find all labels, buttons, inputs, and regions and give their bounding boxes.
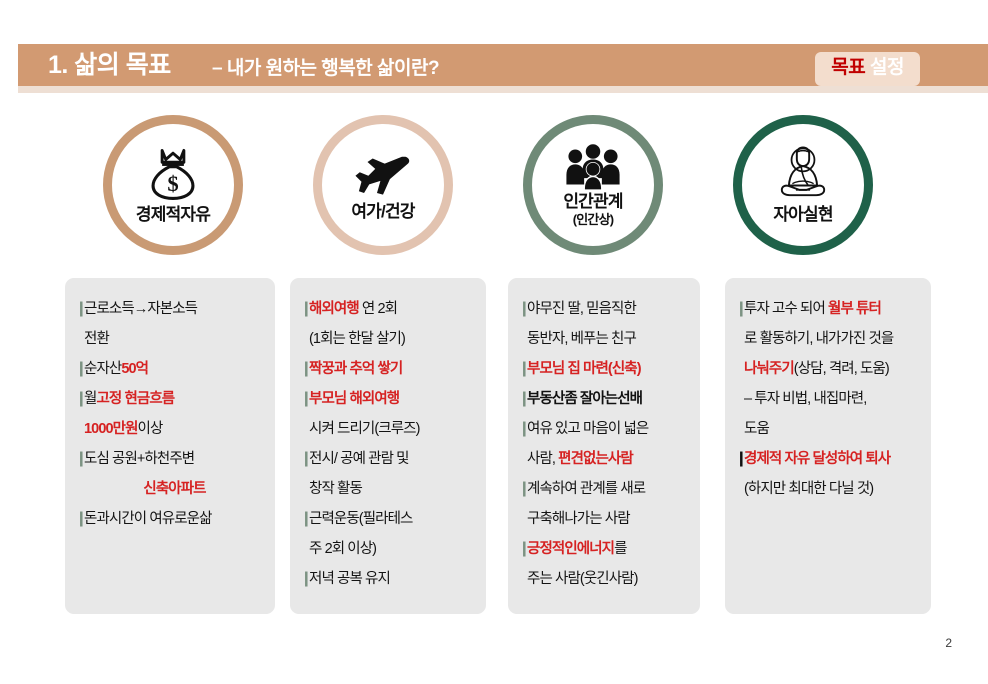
- self-realization-card: ❙투자 고수 되어 월부 튜터로 활동하기, 내가가진 것을나눠주기(상담, 격…: [725, 278, 931, 614]
- text-run: 여유 있고 마음이 넓은: [527, 421, 648, 437]
- list-bullet-icon: ❙: [518, 474, 527, 504]
- text-run: 도심 공원+하천주변: [84, 451, 194, 467]
- text-run: 50억: [121, 361, 148, 377]
- list-item-text: 월고정 현금흐름: [84, 384, 265, 414]
- list-item: 사람, 편견없는사람: [518, 444, 690, 474]
- economic-freedom-card: ❙근로소득→자본소득전환❙순자산50억❙월고정 현금흐름1000만원이상❙도심 …: [65, 278, 275, 614]
- list-item-text: 경제적 자유 달성하여 퇴사: [744, 444, 921, 474]
- text-run: 부모님 해외여행: [309, 391, 399, 407]
- list-item: 주 2회 이상): [300, 534, 476, 564]
- list-item: (1회는 한달 살기): [300, 324, 476, 354]
- list-item: ❙도심 공원+하천주변: [75, 444, 265, 474]
- category-circle-relationships: 인간관계 (인간상): [523, 115, 663, 255]
- list-bullet-icon: ❙: [75, 294, 84, 324]
- list-item: (하지만 최대한 다닐 것): [735, 474, 921, 504]
- list-item-text: 부모님 집 마련(신축): [527, 354, 690, 384]
- category-circle-leisure-health: 여가/건강: [313, 115, 453, 255]
- list-bullet-icon: ❙: [518, 384, 527, 414]
- list-item: 로 활동하기, 내가가진 것을: [735, 324, 921, 354]
- list-bullet-icon: ❙: [518, 354, 527, 384]
- list-item: ❙돈과시간이 여유로운삶: [75, 504, 265, 534]
- text-run: 이상: [138, 421, 163, 437]
- category-label: 경제적자유: [136, 205, 210, 225]
- list-item: 전환: [75, 324, 265, 354]
- goal-list: ❙투자 고수 되어 월부 튜터로 활동하기, 내가가진 것을나눠주기(상담, 격…: [735, 294, 921, 504]
- text-run: 시켜 드리기(크루즈): [309, 421, 420, 437]
- list-item-text: 긍정적인에너지를: [527, 534, 690, 564]
- text-run: 고정 현금흐름: [96, 391, 174, 407]
- list-item: 도움: [735, 414, 921, 444]
- category-label: 인간관계: [563, 192, 622, 212]
- list-item-text: 근로소득→자본소득: [84, 294, 265, 324]
- text-run: 동반자, 베푸는 친구: [527, 331, 636, 347]
- list-bullet-icon: ❙: [75, 444, 84, 474]
- list-item-text: 부동산좀 잘아는선배: [527, 384, 690, 414]
- list-item-text: 근력운동(필라테스: [309, 504, 476, 534]
- text-run: 근로소득→자본소득: [84, 301, 197, 317]
- list-bullet-icon: ❙: [735, 294, 744, 324]
- text-run: 주는 사람(웃긴사람): [527, 571, 638, 587]
- list-bullet-icon: ❙: [300, 354, 309, 384]
- text-run: 야무진 딸, 믿음직한: [527, 301, 636, 317]
- list-item: 구축해나가는 사람: [518, 504, 690, 534]
- header-bar-underline: [18, 86, 988, 93]
- list-bullet-icon: ❙: [518, 414, 527, 444]
- category-label: 자아실현: [773, 205, 832, 225]
- list-item-text: 부모님 해외여행: [309, 384, 476, 414]
- list-item: 1000만원이상: [75, 414, 265, 444]
- text-run: (하지만 최대한 다닐 것): [744, 481, 873, 497]
- text-run: 저녁 공복 유지: [309, 571, 390, 587]
- list-item-text: 전환: [84, 324, 265, 354]
- list-item-text: 전시/ 공예 관람 및: [309, 444, 476, 474]
- list-item: ❙계속하여 관계를 새로: [518, 474, 690, 504]
- list-item-text: 도움: [744, 414, 921, 444]
- list-item-text: (1회는 한달 살기): [309, 324, 476, 354]
- text-run: 창작 활동: [309, 481, 362, 497]
- goal-list: ❙근로소득→자본소득전환❙순자산50억❙월고정 현금흐름1000만원이상❙도심 …: [75, 294, 265, 534]
- list-item: – 투자 비법, 내집마련,: [735, 384, 921, 414]
- list-item-text: 주는 사람(웃긴사람): [527, 564, 690, 594]
- text-run: (상담, 격려, 도움): [794, 361, 889, 377]
- text-run: 경제적 자유 달성하여 퇴사: [744, 451, 890, 467]
- category-sublabel: (인간상): [573, 212, 614, 228]
- list-item-text: 돈과시간이 여유로운삶: [84, 504, 265, 534]
- text-run: 돈과시간이 여유로운삶: [84, 511, 212, 527]
- list-item-text: 로 활동하기, 내가가진 것을: [744, 324, 921, 354]
- meditating-buddha-icon: [773, 145, 833, 203]
- list-item: ❙야무진 딸, 믿음직한: [518, 294, 690, 324]
- list-item-text: 야무진 딸, 믿음직한: [527, 294, 690, 324]
- goal-list: ❙해외여행 연 2회(1회는 한달 살기)❙ 짝꿍과 추억 쌓기❙부모님 해외여…: [300, 294, 476, 594]
- text-run: 계속하여 관계를 새로: [527, 481, 645, 497]
- list-item: 신축아파트: [75, 474, 265, 504]
- text-run: 구축해나가는 사람: [527, 511, 630, 527]
- goal-list: ❙야무진 딸, 믿음직한동반자, 베푸는 친구❙부모님 집 마련(신축)❙부동산…: [518, 294, 690, 594]
- text-run: 1000만원: [84, 421, 138, 437]
- list-item-text: 도심 공원+하천주변: [84, 444, 265, 474]
- list-item-text: 시켜 드리기(크루즈): [309, 414, 476, 444]
- list-bullet-icon: ❙: [300, 294, 309, 324]
- text-run: 를: [614, 541, 626, 557]
- leisure-health-card: ❙해외여행 연 2회(1회는 한달 살기)❙ 짝꿍과 추억 쌓기❙부모님 해외여…: [290, 278, 486, 614]
- list-item: ❙여유 있고 마음이 넓은: [518, 414, 690, 444]
- status-badge: 목표 설정: [815, 52, 920, 86]
- text-run: 사람,: [527, 451, 558, 467]
- list-item-text: 주 2회 이상): [309, 534, 476, 564]
- list-item-text: 신축아파트: [84, 474, 265, 504]
- list-item-text: – 투자 비법, 내집마련,: [744, 384, 921, 414]
- status-badge-secondary-text: 설정: [865, 57, 904, 78]
- text-run: 전시/ 공예 관람 및: [309, 451, 409, 467]
- list-item-text: 순자산50억: [84, 354, 265, 384]
- list-item: 나눠주기(상담, 격려, 도움): [735, 354, 921, 384]
- text-run: 해외여행: [309, 301, 359, 317]
- list-item: ❙해외여행 연 2회: [300, 294, 476, 324]
- airplane-icon: [352, 148, 414, 200]
- list-item: ❙경제적 자유 달성하여 퇴사: [735, 444, 921, 474]
- list-item-text: 구축해나가는 사람: [527, 504, 690, 534]
- list-item-text: 계속하여 관계를 새로: [527, 474, 690, 504]
- list-bullet-icon: ❙: [300, 444, 309, 474]
- list-bullet-icon: ❙: [300, 384, 309, 414]
- category-circle-self-realization: 자아실현: [733, 115, 873, 255]
- text-run: 나눠주기: [744, 361, 794, 377]
- list-item: ❙근력운동(필라테스: [300, 504, 476, 534]
- text-run: 월부 튜터: [828, 301, 881, 317]
- text-run: 로 활동하기, 내가가진 것을: [744, 331, 893, 347]
- text-run: (1회는 한달 살기): [309, 331, 405, 347]
- list-item: 동반자, 베푸는 친구: [518, 324, 690, 354]
- money-bag-icon: $: [144, 145, 202, 203]
- list-bullet-icon: ❙: [518, 294, 527, 324]
- status-badge-primary-text: 목표: [831, 57, 865, 78]
- list-item: ❙월고정 현금흐름: [75, 384, 265, 414]
- text-run: 투자 고수 되어: [744, 301, 828, 317]
- list-item-text: 투자 고수 되어 월부 튜터: [744, 294, 921, 324]
- list-item: 창작 활동: [300, 474, 476, 504]
- text-run: 긍정적인에너지: [527, 541, 614, 557]
- list-item: ❙투자 고수 되어 월부 튜터: [735, 294, 921, 324]
- text-run: 전환: [84, 331, 109, 347]
- text-run: 월: [84, 391, 96, 407]
- svg-text:$: $: [167, 171, 178, 196]
- page-title: 1. 삶의 목표: [48, 48, 171, 82]
- text-run: – 투자 비법, 내집마련,: [744, 391, 866, 407]
- text-run: 짝꿍과 추억 쌓기: [309, 361, 402, 377]
- list-item-text: 여유 있고 마음이 넓은: [527, 414, 690, 444]
- list-bullet-icon: ❙: [300, 504, 309, 534]
- text-run: 편견없는사람: [558, 451, 633, 467]
- list-item-text: 나눠주기(상담, 격려, 도움): [744, 354, 921, 384]
- list-item: ❙긍정적인에너지를: [518, 534, 690, 564]
- list-item-text: 저녁 공복 유지: [309, 564, 476, 594]
- people-group-icon: [564, 142, 622, 190]
- relationships-card: ❙야무진 딸, 믿음직한동반자, 베푸는 친구❙부모님 집 마련(신축)❙부동산…: [508, 278, 700, 614]
- list-item: ❙근로소득→자본소득: [75, 294, 265, 324]
- text-run: 순자산: [84, 361, 121, 377]
- text-run: 연 2회: [359, 301, 397, 317]
- text-run: 근력운동(필라테스: [309, 511, 412, 527]
- list-item: ❙전시/ 공예 관람 및: [300, 444, 476, 474]
- text-run: 도움: [744, 421, 769, 437]
- list-item-text: 동반자, 베푸는 친구: [527, 324, 690, 354]
- list-bullet-icon: ❙: [300, 564, 309, 594]
- list-bullet-icon: ❙: [518, 534, 527, 564]
- list-bullet-icon: ❙: [75, 354, 84, 384]
- category-label: 여가/건강: [351, 202, 414, 222]
- list-item-text: 짝꿍과 추억 쌓기: [309, 354, 476, 384]
- list-item: ❙부동산좀 잘아는선배: [518, 384, 690, 414]
- list-item: 주는 사람(웃긴사람): [518, 564, 690, 594]
- list-item-text: 해외여행 연 2회: [309, 294, 476, 324]
- list-item: 시켜 드리기(크루즈): [300, 414, 476, 444]
- list-item-text: 사람, 편견없는사람: [527, 444, 690, 474]
- list-item: ❙ 짝꿍과 추억 쌓기: [300, 354, 476, 384]
- list-item-text: 1000만원이상: [84, 414, 265, 444]
- list-bullet-icon: ❙: [735, 444, 744, 474]
- text-run: 신축아파트: [143, 481, 205, 497]
- list-bullet-icon: ❙: [75, 384, 84, 414]
- page-subtitle: – 내가 원하는 행복한 삶이란?: [212, 54, 439, 84]
- list-item: ❙저녁 공복 유지: [300, 564, 476, 594]
- text-run: 부모님 집 마련(신축): [527, 361, 641, 377]
- list-item-text: (하지만 최대한 다닐 것): [744, 474, 921, 504]
- text-run: 주 2회 이상): [309, 541, 376, 557]
- page-number: 2: [945, 636, 952, 650]
- list-item: ❙부모님 집 마련(신축): [518, 354, 690, 384]
- list-item: ❙부모님 해외여행: [300, 384, 476, 414]
- list-item: ❙순자산50억: [75, 354, 265, 384]
- text-run: 부동산좀 잘아는선배: [527, 391, 642, 407]
- list-item-text: 창작 활동: [309, 474, 476, 504]
- category-circle-economic-freedom: $ 경제적자유: [103, 115, 243, 255]
- list-bullet-icon: ❙: [75, 504, 84, 534]
